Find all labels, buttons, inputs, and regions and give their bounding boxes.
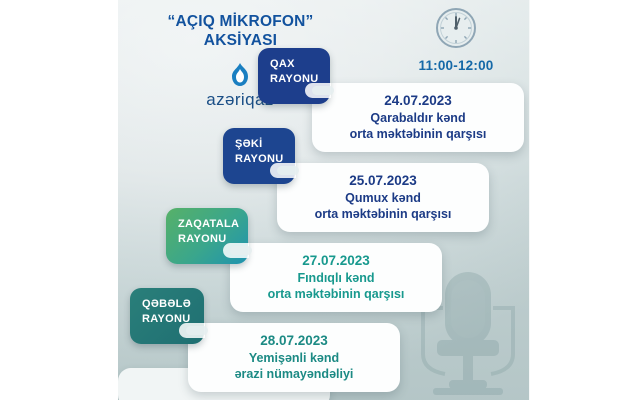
announcement-poster: “AÇIQ MİKROFON” AKSİYASI azəriqaz: [118, 0, 529, 400]
tab-notch-icon: [179, 323, 205, 338]
screenshot-canvas: “AÇIQ MİKROFON” AKSİYASI azəriqaz: [0, 0, 637, 400]
card-venue-line-2: orta məktəbinin qarşısı: [238, 286, 434, 302]
schedule-card-3[interactable]: 27.07.2023 Fındıqlı kənd orta məktəbinin…: [230, 243, 442, 312]
page-title: “AÇIQ MİKROFON” AKSİYASI: [118, 12, 363, 50]
schedule-card-4[interactable]: 28.07.2023 Yemişənli kənd ərazi nümayənd…: [188, 323, 400, 392]
region-tab-qax[interactable]: QAX RAYONU: [258, 48, 330, 104]
schedule-card-1[interactable]: 24.07.2023 Qarabaldır kənd orta məktəbin…: [312, 83, 524, 152]
card-date: 27.07.2023: [238, 252, 434, 269]
card-venue-line-2: ərazi nümayəndəliyi: [196, 366, 392, 382]
region-tab-seki[interactable]: ŞƏKİ RAYONU: [223, 128, 295, 184]
card-venue-line-1: Qarabaldır kənd: [320, 110, 516, 126]
region-tab-line-1: ZAQATALA: [178, 218, 239, 230]
card-venue-line-1: Fındıqlı kənd: [238, 270, 434, 286]
card-date: 25.07.2023: [285, 172, 481, 189]
region-tab-line-1: QAX: [270, 58, 295, 70]
clock-icon: [434, 6, 478, 50]
title-line-1: “AÇIQ MİKROFON”: [118, 12, 363, 31]
region-tab-line-1: QƏBƏLƏ: [142, 298, 191, 310]
card-venue-line-2: orta məktəbinin qarşısı: [285, 206, 481, 222]
card-venue-line-1: Yemişənli kənd: [196, 350, 392, 366]
region-tab-qebele[interactable]: QƏBƏLƏ RAYONU: [130, 288, 204, 344]
card-date: 28.07.2023: [196, 332, 392, 349]
region-tab-line-1: ŞƏKİ: [235, 138, 263, 150]
tab-notch-icon: [305, 83, 331, 98]
card-venue-line-1: Qumux kənd: [285, 190, 481, 206]
card-date: 24.07.2023: [320, 92, 516, 109]
tab-notch-icon: [270, 163, 296, 178]
card-venue-line-2: orta məktəbinin qarşısı: [320, 126, 516, 142]
tab-notch-icon: [223, 243, 249, 258]
schedule-card-2[interactable]: 25.07.2023 Qumux kənd orta məktəbinin qa…: [277, 163, 489, 232]
region-tab-zaqatala[interactable]: ZAQATALA RAYONU: [166, 208, 248, 264]
